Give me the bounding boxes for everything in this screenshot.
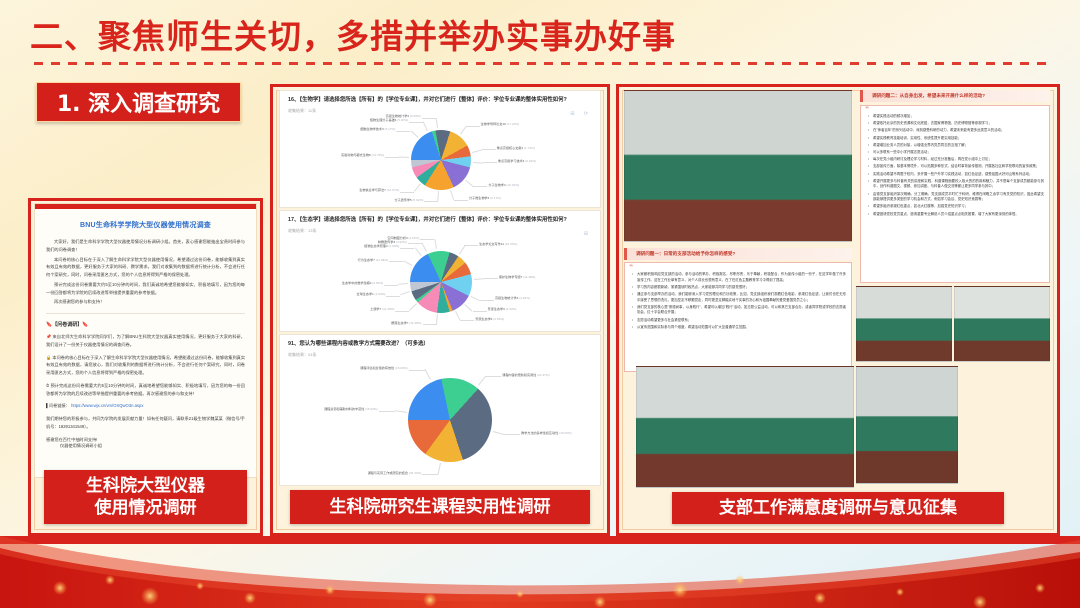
caption-right: 支部工作满意度调研与意见征集 (672, 492, 1004, 524)
leader-line (422, 474, 438, 475)
question-text: 【生物学】请选择您所选【所有】的【学位专业课】，并对它们进行【整体】评价：学位专… (299, 97, 566, 103)
pie-slice-label: 行为生态学7 (11.48%) (358, 258, 388, 262)
pie-slice-label: 土壤学7 (11.48%) (370, 307, 394, 311)
list-item: 希望实践活动的频次增加； (868, 114, 1044, 120)
document-bullet: 🔒 本问卷的核心目标在于深入了解生命科学学院大型仪器使用情况，希望能通过这份问卷… (46, 354, 245, 377)
research-question-1-box: ❝ 大家都积极响应党支部的活动，参与活动的率办，积极报名，尽职尽责，乐于奉献，积… (624, 262, 852, 372)
leader-line (420, 239, 434, 240)
pie-slice-label: 生物学导师论文10 (17.24%) (481, 122, 520, 126)
research-question-2-box: ❝ 希望实践活动的频次增加；希望依托北京的历史资源和文化底蕴，去国家博物馆、历史… (860, 105, 1050, 283)
pie-slice-label: 重点高级学习技术4 (6.62%) (498, 159, 536, 163)
document-paragraph: 预计完成这份问卷需要大约5至10分钟的时间，我们真诚地希望您能够如实、积极地填写… (46, 281, 245, 297)
leader-line (409, 303, 417, 311)
list-item: 通过参与支部举办的活动，我们能够深入学习党的理论和方针政策，比如，党支部组织我们… (632, 292, 846, 303)
caption-middle: 生科院研究生课程实用性调研 (290, 490, 590, 524)
pie-slice-label: 生态学论文写作11 (18.03%) (479, 242, 517, 246)
document-section-head: 🔖【问卷调研】🔖 (46, 321, 245, 328)
section-label: 1. 深入调查研究 (36, 82, 241, 122)
leader-line (414, 247, 421, 255)
leader-line (410, 130, 418, 138)
question-text: 您认为哪些课程内容或教学方式需要改进？（可多选） (299, 341, 428, 347)
question-index: 16、 (288, 97, 299, 103)
document-link-row[interactable]: ▌问卷链接： https://www.wjx.cn/vm/OXQwO3n.asp… (46, 402, 245, 410)
document-divider (46, 313, 245, 314)
leader-line (465, 180, 473, 187)
pie-graphic (408, 378, 492, 462)
signature-line1: 感谢您在百忙中抽时间支持! (46, 437, 97, 442)
leader-line (484, 278, 498, 279)
pie-slice-label: 全球生态学1 (1.64%) (356, 292, 385, 296)
pie-slice-label: 教学方法的多样性和互动性 (15.00%) (521, 431, 572, 435)
pie-slice-label: 分子微生物学3 (5.17%) (469, 196, 501, 200)
pie-graphic (410, 251, 472, 313)
signature-line2: 仪器使用情况调研小组 (46, 443, 245, 449)
pie-graphic (411, 130, 471, 190)
list-item: 由德党支部组织架次明确，分工明确，党支部成员平时忙于科研，难得在闲暇之余学习有关… (868, 192, 1044, 203)
list-item: 希望增加业务人员的对接，以增强业界内党员同志的互相了解； (868, 143, 1044, 149)
pie-slice-label: 生态学中的数学建模4 (6.56%) (342, 281, 383, 285)
survey-document: BNU生命科学学院大型仪器使用情况调查 大家好，我们是生命科学学院大型仪器使用情… (34, 203, 257, 478)
pie-slice-label: 种群遗传学3 (4.92%) (378, 240, 407, 244)
leader-line (400, 192, 414, 193)
list-item: 支部宣传方面，除基本情境外，可以拓展多种形式，结合时事背景传推测，开展各社区和学… (868, 164, 1044, 170)
document-bullet: 📌 来自北师大生命科学学院同学们，为了解BNU生科院大型仪器真实使用情况，更好服… (46, 333, 245, 349)
photo-interview-group (636, 366, 854, 488)
pie-slice-label: 保护生物学专题7 (11.48%) (499, 275, 536, 279)
pie-slice-label: 群落生态学7 (11.48%) (391, 321, 421, 325)
pie-chart-1: 生物学导师论文10 (17.24%)重点高级核心文献1 (1.72%)重点高级学… (280, 114, 600, 206)
list-item: 大家都积极响应党支部的活动，参与活动的率办，积极报名，尽职尽责，乐于奉献，积极配… (632, 272, 846, 283)
pie-chart-2: 生态学论文写作11 (18.03%)保护生物学专题7 (11.48%)高级生物统… (280, 234, 600, 330)
document-paragraph: 再次感谢您的参与和支持！ (46, 298, 245, 306)
pie-slice-label: 实验动物与模式生物8 (13.79%) (341, 153, 384, 157)
page-title: 二、聚焦师生关切，多措并举办实事办好事 (30, 10, 890, 58)
question-title: 16、【生物学】请选择您所选【所有】的【学位专业课】，并对它们进行【整体】评价：… (288, 97, 592, 105)
question-title: 91、您认为哪些课程内容或教学方式需要改进？（可多选） (288, 341, 592, 349)
list-item: 希望实践教育技能培训，实用性、系统性提升更实用技能； (868, 136, 1044, 142)
leader-line (423, 324, 437, 325)
pie-slice-label: 景观生态学4 (6.56%) (475, 317, 504, 321)
list-item: 希望依托北京的历史资源和文化底蕴，去国家博物馆、历史博物馆等参观学习； (868, 121, 1044, 127)
leader-line (423, 121, 428, 130)
pie-slice-label: 景观生态学3 (4.92%) (488, 307, 517, 311)
leader-line (473, 311, 487, 312)
photo-classroom-discussion (624, 90, 852, 242)
quote-icon: ❝ (629, 263, 633, 271)
list-item: 希望邀请党校党员重点，邀请重要专业解说人员介绍重点点相关推置，增了大家有更深刻的… (868, 212, 1044, 218)
link-label: ▌问卷链接： (46, 403, 70, 408)
document-bullet: ⏱ 预计完成这份问卷需要大约5至10分钟的时间，真诚地希望您能够如实、积极地填写… (46, 382, 245, 398)
leader-line (450, 190, 454, 200)
leader-line (470, 296, 479, 301)
survey-link[interactable]: https://www.wjx.cn/vm/OXQwO3n.aspx (71, 403, 143, 408)
leader-line (395, 311, 409, 312)
leader-line (408, 243, 422, 244)
document-signature: 感谢您在百忙中抽时间支持! 仪器使用情况调研小组 (46, 437, 245, 449)
pie-slice-label: 空间制图分析3 (4.92%) (387, 236, 419, 240)
research-question-1-list: 大家都积极响应党支部的活动，参与活动的率办，积极报名，尽职尽责，乐于奉献，积极配… (632, 272, 846, 332)
list-item: 希望开展更多与科普有关的讲座和实践，科普课程面要校入极大的的的用和魅力，并不是每… (868, 179, 1044, 190)
document-closing: 我们期待您的积极参与，共同为学院的发展贡献力量！如有任何疑问，请联系21级生物学… (46, 415, 245, 431)
leader-line (483, 162, 497, 163)
leader-line (437, 191, 439, 201)
list-item: 可以多联系一些中小学开展志愿活动； (868, 150, 1044, 156)
leader-line (465, 304, 473, 312)
leader-line (504, 434, 520, 435)
photo-interview-pair-a (856, 286, 952, 362)
pie-slice-label: 分子遗传学5 (5.62%) (394, 198, 423, 202)
caption-left-line2: 使用情况调研 (86, 497, 205, 519)
research-question-2-header: 调研问题二：从自身出发，希望未来开展什么样的活动? (860, 90, 1050, 102)
survey-result-card: 17、【生态学】请选择您所选【所有】的【学位专业课】，并对它们进行【整体】评价：… (279, 210, 601, 332)
leader-line (436, 118, 438, 128)
leader-line (478, 376, 486, 386)
pie-slice-label: 植物生态学原理4 (1.64%) (364, 244, 399, 248)
question-index: 17、 (288, 217, 299, 223)
leader-line (400, 291, 410, 295)
survey-result-card: 91、您认为哪些课程内容或教学方式需要改进？（可多选） 收集结果：24条 课程内… (279, 334, 601, 486)
leader-line (399, 156, 409, 158)
pie-slice-label: 课程内容的更新和实用性 (21.67%) (502, 373, 549, 377)
leader-line (466, 126, 480, 127)
leader-line (422, 243, 427, 252)
list-item: 希望多组织参观红色重点，如北大红楼等，加强党史知识学习； (868, 204, 1044, 210)
leader-line (437, 462, 440, 474)
photo-writing-notes (856, 366, 958, 484)
photo-interview-pair-b (954, 286, 1050, 362)
leader-line (473, 186, 487, 187)
pie-slice-label: 课程评估和反馈的有效性 (15.00%) (360, 366, 407, 370)
caption-left: 生科院大型仪器 使用情况调研 (44, 470, 247, 524)
list-item: 实践活动希望不再限于校内，多开展一些户外学习实践活动，如红色足迹，感受祖国大好河… (868, 172, 1044, 178)
caption-left-line1: 生科院大型仪器 (86, 475, 205, 497)
list-item: 从宣传范围和实际参与同个维度，希望活动范围可以扩大至普通学生范围。 (632, 325, 846, 331)
document-top-bar (35, 204, 256, 209)
leader-line (460, 126, 467, 135)
leader-line (436, 314, 438, 324)
leader-line (482, 149, 496, 150)
leader-line (480, 300, 494, 301)
leader-line (473, 162, 483, 164)
leader-line (459, 245, 465, 254)
research-question-1-header: 调研问题一：日常的支部活动给予你怎样的感受? (624, 248, 852, 260)
question-title: 17、【生态学】请选择您所选【所有】的【学位专业课】，并对它们进行【整体】评价：… (288, 217, 592, 225)
list-item: 志愿活动希望更多与社会紧密联系； (632, 318, 846, 324)
pie-slice-label: 生物信息学与算法7 (12.07%) (359, 188, 399, 192)
leader-line (395, 410, 407, 413)
leader-line (409, 122, 423, 123)
leader-line (474, 278, 484, 280)
question-index: 91、 (288, 341, 299, 347)
leader-line (413, 184, 420, 192)
list-item: 每次在党小组内研讨及理论学习材料，经过充分准备后，再在党小组中上讨论； (868, 157, 1044, 163)
leader-line (424, 201, 438, 202)
leader-line (492, 431, 504, 435)
header-divider (34, 62, 1046, 65)
pie-slice-label: 分子生物学4 (10.34%) (488, 183, 519, 187)
leader-line (389, 261, 403, 262)
list-item: 我们党支部的核心是"崇德尚事，以身践行"，希望可以增加"践行"活动，如志愿公益活… (632, 305, 846, 316)
pie-slice-label: 高级生物统计学4 (3.50%) (386, 114, 421, 118)
pie-slice-label: 重点高级核心文献1 (1.72%) (497, 146, 535, 150)
pie-slice-label: 课程资源和辅助材料的丰富性 (15.00%) (324, 407, 378, 411)
pie-slice-label: 高级生物统计学3 (4.92%) (495, 296, 530, 300)
leader-line (385, 157, 399, 158)
leader-line (384, 285, 398, 286)
leader-line (398, 283, 408, 285)
leader-line (396, 131, 410, 132)
document-paragraph: 大家好，我们是生命科学学院大型仪器使用情况分析调研小组。首先，衷心感谢您能抽出宝… (46, 238, 245, 254)
research-question-2-list: 希望实践活动的频次增加；希望依托北京的历史资源和文化底蕴，去国家博物馆、历史博物… (868, 114, 1044, 219)
pie-slice-label: 细胞生物学技术3 (5.17%) (360, 127, 395, 131)
leader-line (472, 149, 482, 152)
leader-line (400, 248, 414, 249)
leader-line (460, 320, 474, 321)
question-text: 【生态学】请选择您所选【所有】的【学位专业课】，并对它们进行【整体】评价：学位专… (299, 217, 566, 223)
leader-line (403, 260, 412, 266)
quote-icon: ❝ (865, 105, 869, 113)
leader-line (434, 239, 437, 249)
document-paragraph: 本问卷的核心目标在于深入了解生命科学学院大型仪器使用情况，希望通过这份问卷，能够… (46, 256, 245, 279)
leader-line (386, 296, 400, 297)
leader-line (425, 369, 431, 380)
leader-line (409, 370, 425, 371)
leader-line (485, 376, 501, 377)
document-title: BNU生命科学学院大型仪器使用情况调查 (45, 220, 246, 230)
pie-chart-3: 课程内容的更新和实用性 (21.67%)教学方法的多样性和互动性 (15.00%… (280, 358, 600, 482)
leader-line (464, 245, 478, 246)
list-item: 学习的内容都很新颖，紧紧围绕时政热点，大家能够共同学习的感觉很好； (632, 285, 846, 291)
leader-line (422, 118, 436, 119)
list-item: 在"师者百年"的系列活动中，深刻感受科研的动力，希望未来能有更多此类意义的活动； (868, 128, 1044, 134)
leader-line (454, 200, 468, 201)
pie-slice-label: 课程与实际工作或研究的结合 (33.33%) (368, 471, 422, 475)
survey-result-card: 16、【生物学】请选择您所选【所有】的【学位专业课】，并对它们进行【整体】评价：… (279, 90, 601, 208)
leader-line (379, 411, 395, 412)
